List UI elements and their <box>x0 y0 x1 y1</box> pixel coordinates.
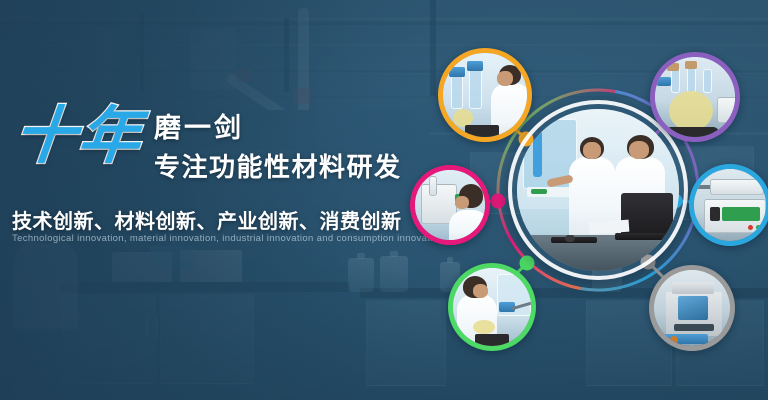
br-monitor <box>678 296 708 320</box>
tr-reaction-flask <box>669 91 713 131</box>
headline-line-2: 专注功能性材料研发 <box>154 150 402 185</box>
node-left-scene <box>415 170 485 240</box>
center-person-1-face <box>583 142 601 159</box>
node-bottom-right[interactable] <box>649 265 735 351</box>
r-indicator-red <box>748 225 753 230</box>
center-laptop-base <box>615 233 679 240</box>
node-top-right-photo <box>655 57 735 137</box>
node-right[interactable] <box>689 164 768 246</box>
node-right-scene <box>694 169 766 241</box>
br-workstation-top <box>672 282 714 294</box>
r-machine-top <box>710 179 764 195</box>
circle-composition <box>400 0 768 400</box>
bl-sample <box>473 320 495 334</box>
r-arm <box>698 185 710 189</box>
bl-tray <box>475 334 509 346</box>
node-top-right[interactable] <box>650 52 740 142</box>
tr-condenser-3 <box>703 69 712 93</box>
tl-person-face <box>497 71 513 86</box>
tr-cork-1 <box>667 63 679 71</box>
node-bottom-right-scene <box>654 270 730 346</box>
r-indicator-green <box>756 225 761 230</box>
headline-row: 十年 磨一剑 专注功能性材料研发 <box>14 108 402 185</box>
center-green-indicator <box>531 189 547 194</box>
tl-valve-1 <box>449 67 465 77</box>
tl-glassware-2 <box>469 69 482 109</box>
promo-banner: 十年 磨一剑 专注功能性材料研发 技术创新、材料创新、产业创新、消费创新 Tec… <box>0 0 768 400</box>
l-person-face <box>455 196 469 209</box>
headline-right-group: 磨一剑 专注功能性材料研发 <box>154 108 402 185</box>
center-person-2-face <box>629 141 649 159</box>
node-bottom-left-scene <box>453 268 531 346</box>
subtitle-chinese: 技术创新、材料创新、产业创新、消费创新 <box>12 205 402 234</box>
node-bottom-right-photo <box>654 270 730 346</box>
brush-headline: 十年 <box>11 108 145 167</box>
node-top-left-scene <box>443 53 527 137</box>
node-top-left-photo <box>443 53 527 137</box>
tl-valve-2 <box>467 61 483 71</box>
r-control-panel <box>722 207 760 221</box>
node-top-left[interactable] <box>438 48 532 142</box>
node-top-right-scene <box>655 57 735 137</box>
node-bottom-left[interactable] <box>448 263 536 351</box>
l-person-coat <box>449 210 485 240</box>
tr-bench-equipment <box>717 97 735 123</box>
node-right-photo <box>694 169 766 241</box>
node-left-photo <box>415 170 485 240</box>
tr-clamp <box>657 77 671 86</box>
center-bench <box>517 235 679 271</box>
tl-equipment <box>465 125 499 137</box>
tl-glassware-1 <box>451 75 463 109</box>
center-instrument-stand <box>533 131 542 177</box>
tr-condenser-2 <box>687 65 696 93</box>
headline-text-block: 十年 磨一剑 专注功能性材料研发 技术创新、材料创新、产业创新、消费创新 Tec… <box>0 0 430 400</box>
node-left[interactable] <box>410 165 490 245</box>
br-keyboard <box>674 324 714 331</box>
headline-line-1: 磨一剑 <box>154 112 402 146</box>
center-mouse <box>565 235 575 242</box>
r-display <box>710 207 720 221</box>
br-knob <box>670 336 678 344</box>
tr-hotplate <box>665 127 719 137</box>
bl-person-face <box>473 284 488 298</box>
tr-cork-2 <box>685 61 697 69</box>
l-instrument-arm <box>429 176 437 196</box>
node-bottom-left-photo <box>453 268 531 346</box>
subtitle-english: Technological innovation, material innov… <box>12 233 444 244</box>
